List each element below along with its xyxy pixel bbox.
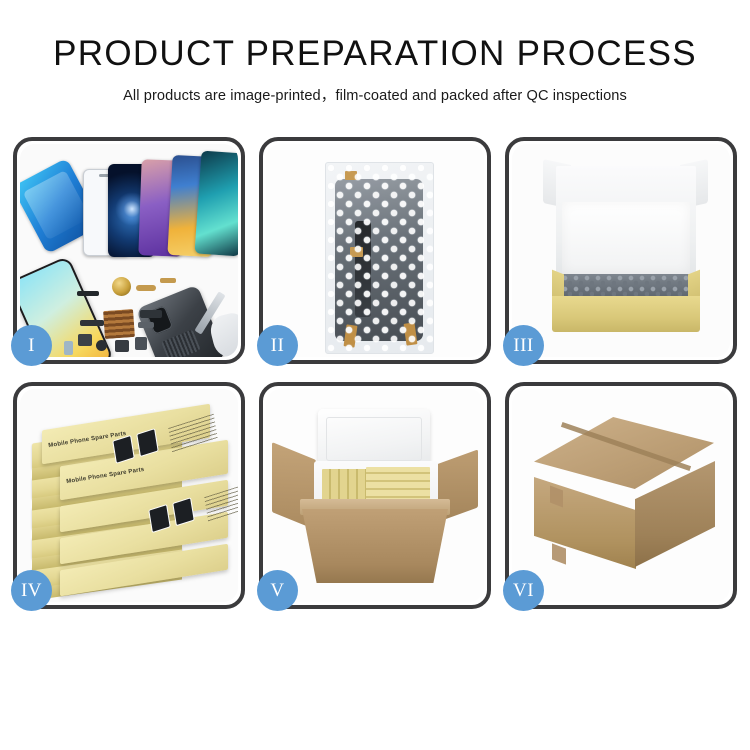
panel-frame: [259, 137, 491, 364]
page-subtitle: All products are image-printed，film-coat…: [0, 84, 750, 105]
teal-display: [194, 151, 238, 257]
part-module-2: [115, 340, 129, 352]
process-step-5: V: [259, 382, 491, 609]
part-sim-tray: [64, 341, 73, 355]
process-step-4: Mobile Phone Spare Parts Mobile Phone Sp…: [13, 382, 245, 609]
step-photo-foam-lined-inner-box: [512, 144, 730, 357]
page-title: PRODUCT PREPARATION PROCESS: [0, 36, 750, 73]
foam-cooler-lid: [318, 409, 430, 469]
step-number-badge: V: [257, 570, 298, 611]
header: PRODUCT PREPARATION PROCESS All products…: [0, 0, 750, 105]
process-step-3: III: [505, 137, 737, 364]
white-foam-liner: [562, 202, 690, 274]
box-front-panel: [552, 296, 700, 332]
step-photo-carton-with-foam-cooler: [266, 389, 484, 602]
step-number-badge: IV: [11, 570, 52, 611]
speaker-module-part: [112, 277, 131, 296]
part-gold-connector-2: [160, 278, 176, 283]
panel-frame: Mobile Phone Spare Parts Mobile Phone Sp…: [13, 382, 245, 609]
part-camera-lens: [96, 340, 107, 351]
step-number-badge: III: [503, 325, 544, 366]
step-number-badge: II: [257, 325, 298, 366]
part-module-3: [135, 337, 147, 350]
step-photo-stacked-retail-boxes: Mobile Phone Spare Parts Mobile Phone Sp…: [20, 389, 238, 602]
panel-frame: [13, 137, 245, 364]
panel-frame: [505, 382, 737, 609]
part-flex-cable-3: [140, 310, 162, 318]
step-number-badge: VI: [503, 570, 544, 611]
logic-board-chip-grid: [103, 309, 135, 339]
part-flex-cable-1: [77, 291, 99, 296]
part-flex-cable-2: [80, 320, 104, 326]
bubble-wrap-package: [325, 162, 434, 354]
step-photo-sealed-shipping-carton: [512, 389, 730, 602]
process-step-1: I: [13, 137, 245, 364]
carton-body: [302, 509, 448, 583]
step-number-badge: I: [11, 325, 52, 366]
part-gold-connector-1: [136, 285, 156, 291]
panel-frame: [505, 137, 737, 364]
process-step-6: VI: [505, 382, 737, 609]
step-photo-bubble-wrapped-screen: [266, 144, 484, 357]
process-step-2: II: [259, 137, 491, 364]
part-module-1: [78, 334, 92, 346]
step-photo-screens-and-spare-parts: [20, 144, 238, 357]
product-preparation-infographic: PRODUCT PREPARATION PROCESS All products…: [0, 0, 750, 750]
bubble-wrap-texture: [326, 163, 433, 353]
process-step-grid: I II: [13, 137, 737, 609]
part-flex-cable-4: [138, 322, 154, 328]
box-stack: Mobile Phone Spare Parts Mobile Phone Sp…: [26, 407, 238, 602]
panel-frame: [259, 382, 491, 609]
